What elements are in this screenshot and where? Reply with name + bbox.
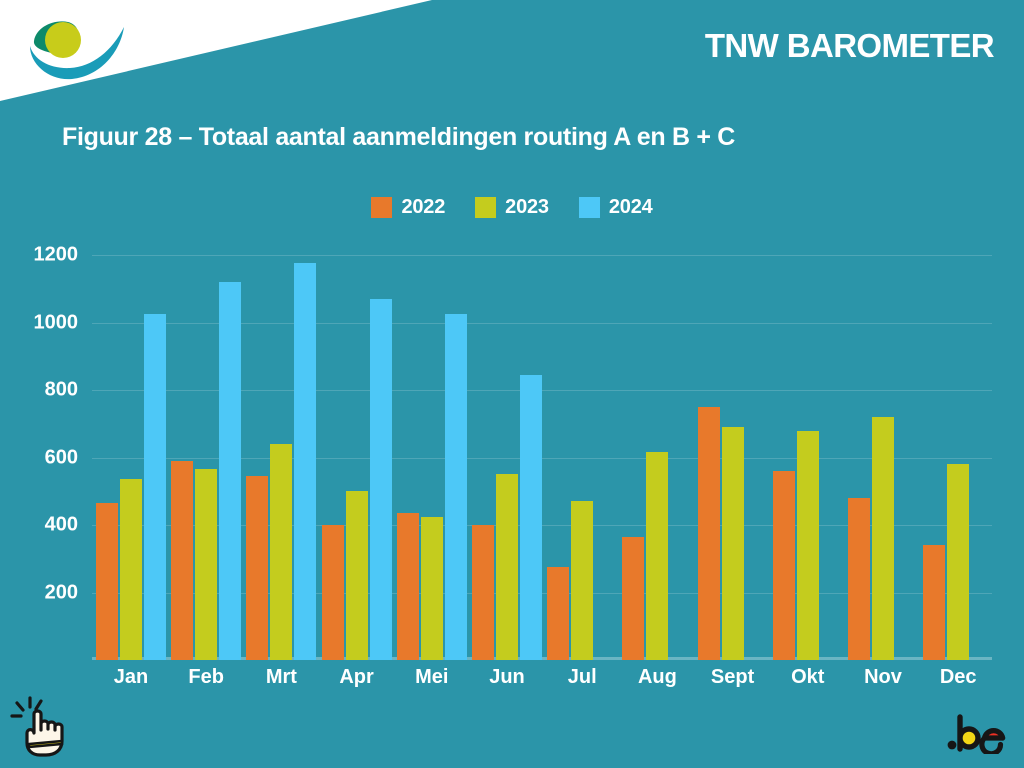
bar-2023-Nov[interactable] [872,417,894,660]
bar-2024-Jan[interactable] [144,314,166,660]
x-axis-tick-Jan: Jan [114,666,148,689]
x-axis-tick-Mei: Mei [415,666,448,689]
bar-2022-Feb[interactable] [171,461,193,660]
bar-2024-Feb[interactable] [219,282,241,660]
x-axis-tick-Jun: Jun [489,666,525,689]
brand-title: TNW BAROMETER [705,27,994,65]
bar-group-Jul [547,228,617,660]
bar-2022-Sept[interactable] [698,407,720,660]
figure-title: Figuur 28 – Totaal aantal aanmeldingen r… [62,123,735,152]
chart-plot-area [92,228,992,660]
bar-2022-Jul[interactable] [547,567,569,660]
legend-label-2023: 2023 [505,196,549,219]
bar-2023-Jul[interactable] [571,501,593,660]
bar-2022-Apr[interactable] [322,525,344,660]
legend-swatch-2024 [579,197,600,218]
bar-2023-Apr[interactable] [346,491,368,660]
bar-2024-Mei[interactable] [445,314,467,660]
legend-swatch-2022 [371,197,392,218]
tnw-swoosh-logo [20,13,138,91]
x-axis-tick-Dec: Dec [940,666,977,689]
bar-2023-Jan[interactable] [120,479,142,660]
bar-2022-Aug[interactable] [622,537,644,660]
bar-2023-Aug[interactable] [646,452,668,660]
y-axis-tick-600: 600 [45,446,78,469]
bar-2023-Okt[interactable] [797,431,819,661]
y-axis-tick-200: 200 [45,581,78,604]
bar-group-Jun [472,228,542,660]
bar-2023-Mrt[interactable] [270,444,292,660]
chart-legend: 202220232024 [0,196,1024,219]
x-axis-tick-Sept: Sept [711,666,754,689]
x-axis-tick-Okt: Okt [791,666,824,689]
legend-swatch-2023 [475,197,496,218]
bar-2024-Jun[interactable] [520,375,542,660]
x-axis-labels: JanFebMrtAprMeiJunJulAugSeptOktNovDec [92,666,992,696]
bar-2023-Feb[interactable] [195,469,217,660]
x-axis-tick-Jul: Jul [568,666,597,689]
bar-2024-Apr[interactable] [370,299,392,660]
bar-group-Jan [96,228,166,660]
y-axis-tick-1000: 1000 [34,311,79,334]
x-axis-tick-Aug: Aug [638,666,677,689]
pointing-hand-click-cursor-icon [8,694,80,760]
y-axis-labels: 20040060080010001200 [0,228,92,660]
bar-2022-Jan[interactable] [96,503,118,660]
x-axis-tick-Apr: Apr [339,666,373,689]
legend-label-2022: 2022 [401,196,445,219]
y-axis-tick-800: 800 [45,379,78,402]
bar-2023-Jun[interactable] [496,474,518,660]
bar-group-Mrt [246,228,316,660]
bar-2024-Mrt[interactable] [294,263,316,660]
x-axis-tick-Mrt: Mrt [266,666,297,689]
bar-2022-Jun[interactable] [472,525,494,660]
bar-group-Nov [848,228,918,660]
bar-group-Dec [923,228,993,660]
bar-group-Feb [171,228,241,660]
bar-2023-Mei[interactable] [421,517,443,660]
bar-2022-Mei[interactable] [397,513,419,660]
legend-label-2024: 2024 [609,196,653,219]
bar-group-Mei [397,228,467,660]
legend-item-2022[interactable]: 2022 [371,196,445,219]
bar-2023-Sept[interactable] [722,427,744,660]
y-axis-tick-400: 400 [45,514,78,537]
x-axis-tick-Nov: Nov [864,666,902,689]
bar-group-Apr [322,228,392,660]
bar-2022-Mrt[interactable] [246,476,268,660]
legend-item-2024[interactable]: 2024 [579,196,653,219]
bar-group-Aug [622,228,692,660]
bar-2023-Dec[interactable] [947,464,969,660]
bar-group-Okt [773,228,843,660]
bar-group-Sept [698,228,768,660]
y-axis-tick-1200: 1200 [34,244,79,267]
bar-2022-Nov[interactable] [848,498,870,660]
bar-2022-Okt[interactable] [773,471,795,660]
dot-be-logo [946,714,1008,754]
x-axis-tick-Feb: Feb [188,666,224,689]
bar-2022-Dec[interactable] [923,545,945,660]
legend-item-2023[interactable]: 2023 [475,196,549,219]
page-header: TNW BAROMETER [0,0,1024,108]
